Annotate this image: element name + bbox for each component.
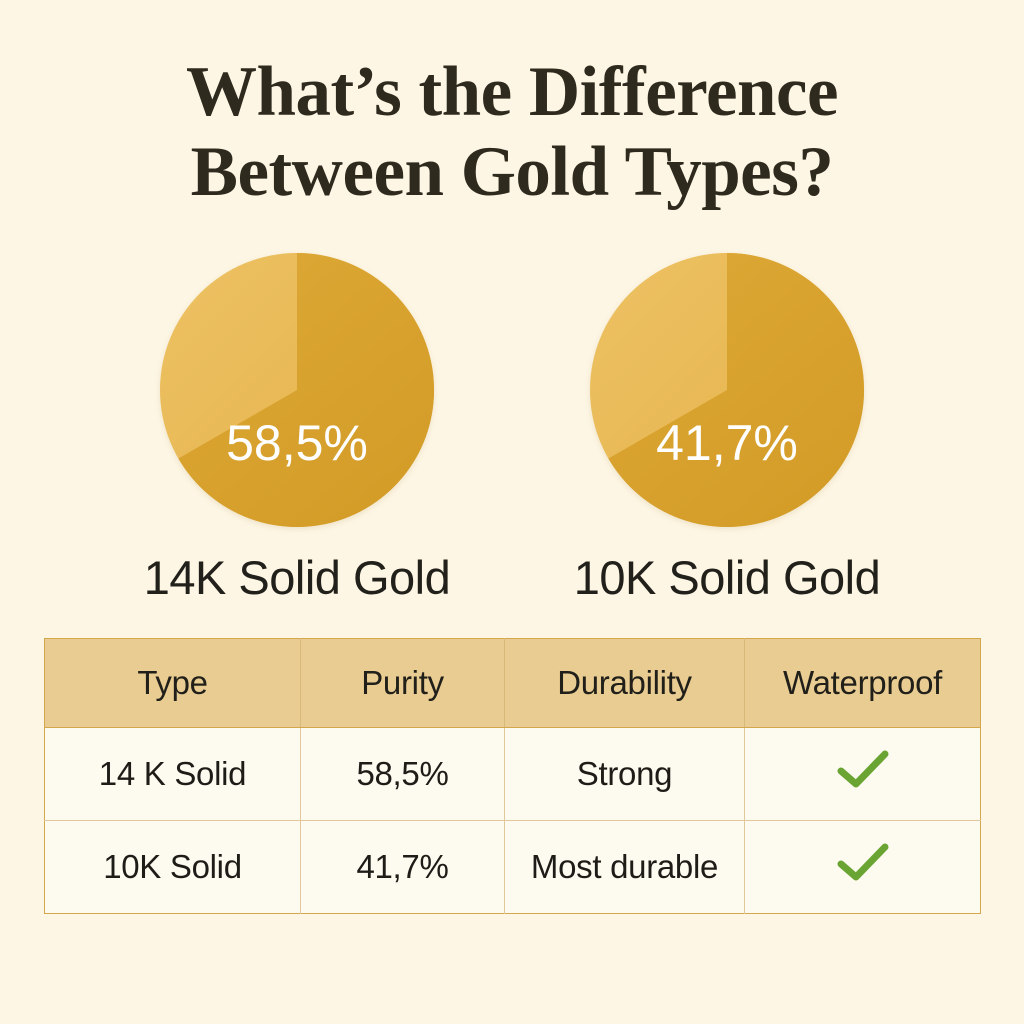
comparison-table: Type Purity Durability Waterproof 14 K S… <box>44 638 981 914</box>
cell-durability-14k: Strong <box>505 728 745 821</box>
page-title: What’s the Difference Between Gold Types… <box>0 52 1024 212</box>
pie-14k-svg <box>159 252 435 528</box>
pie-chart-10k-graphic: 41,7% <box>589 252 865 528</box>
check-icon <box>837 750 889 790</box>
pie-chart-14k: 58,5% 14K Solid Gold <box>127 252 467 528</box>
cell-type-14k: 14 K Solid <box>45 728 301 821</box>
pie-chart-14k-graphic: 58,5% <box>159 252 435 528</box>
page-title-line-2: Between Gold Types? <box>0 132 1024 212</box>
pie-chart-10k: 41,7% 10K Solid Gold <box>557 252 897 528</box>
pie-chart-group: 58,5% 14K Solid Gold <box>0 252 1024 532</box>
table-header-durability: Durability <box>505 639 745 728</box>
cell-durability-10k: Most durable <box>505 821 745 914</box>
table-header-row: Type Purity Durability Waterproof <box>45 639 981 728</box>
pie-10k-value-label: 41,7% <box>589 418 865 468</box>
comparison-table-wrapper: Type Purity Durability Waterproof 14 K S… <box>44 638 980 914</box>
table-header-waterproof: Waterproof <box>745 639 981 728</box>
table-row: 14 K Solid 58,5% Strong <box>45 728 981 821</box>
cell-purity-10k: 41,7% <box>301 821 505 914</box>
cell-type-10k: 10K Solid <box>45 821 301 914</box>
cell-waterproof-10k <box>745 821 981 914</box>
cell-purity-14k: 58,5% <box>301 728 505 821</box>
infographic-canvas: What’s the Difference Between Gold Types… <box>0 0 1024 1024</box>
table-header-purity: Purity <box>301 639 505 728</box>
check-icon <box>837 843 889 883</box>
pie-10k-svg <box>589 252 865 528</box>
table-row: 10K Solid 41,7% Most durable <box>45 821 981 914</box>
cell-waterproof-14k <box>745 728 981 821</box>
pie-14k-value-label: 58,5% <box>159 418 435 468</box>
pie-14k-caption: 14K Solid Gold <box>87 550 507 605</box>
table-header-type: Type <box>45 639 301 728</box>
page-title-line-1: What’s the Difference <box>0 52 1024 132</box>
pie-10k-caption: 10K Solid Gold <box>517 550 937 605</box>
